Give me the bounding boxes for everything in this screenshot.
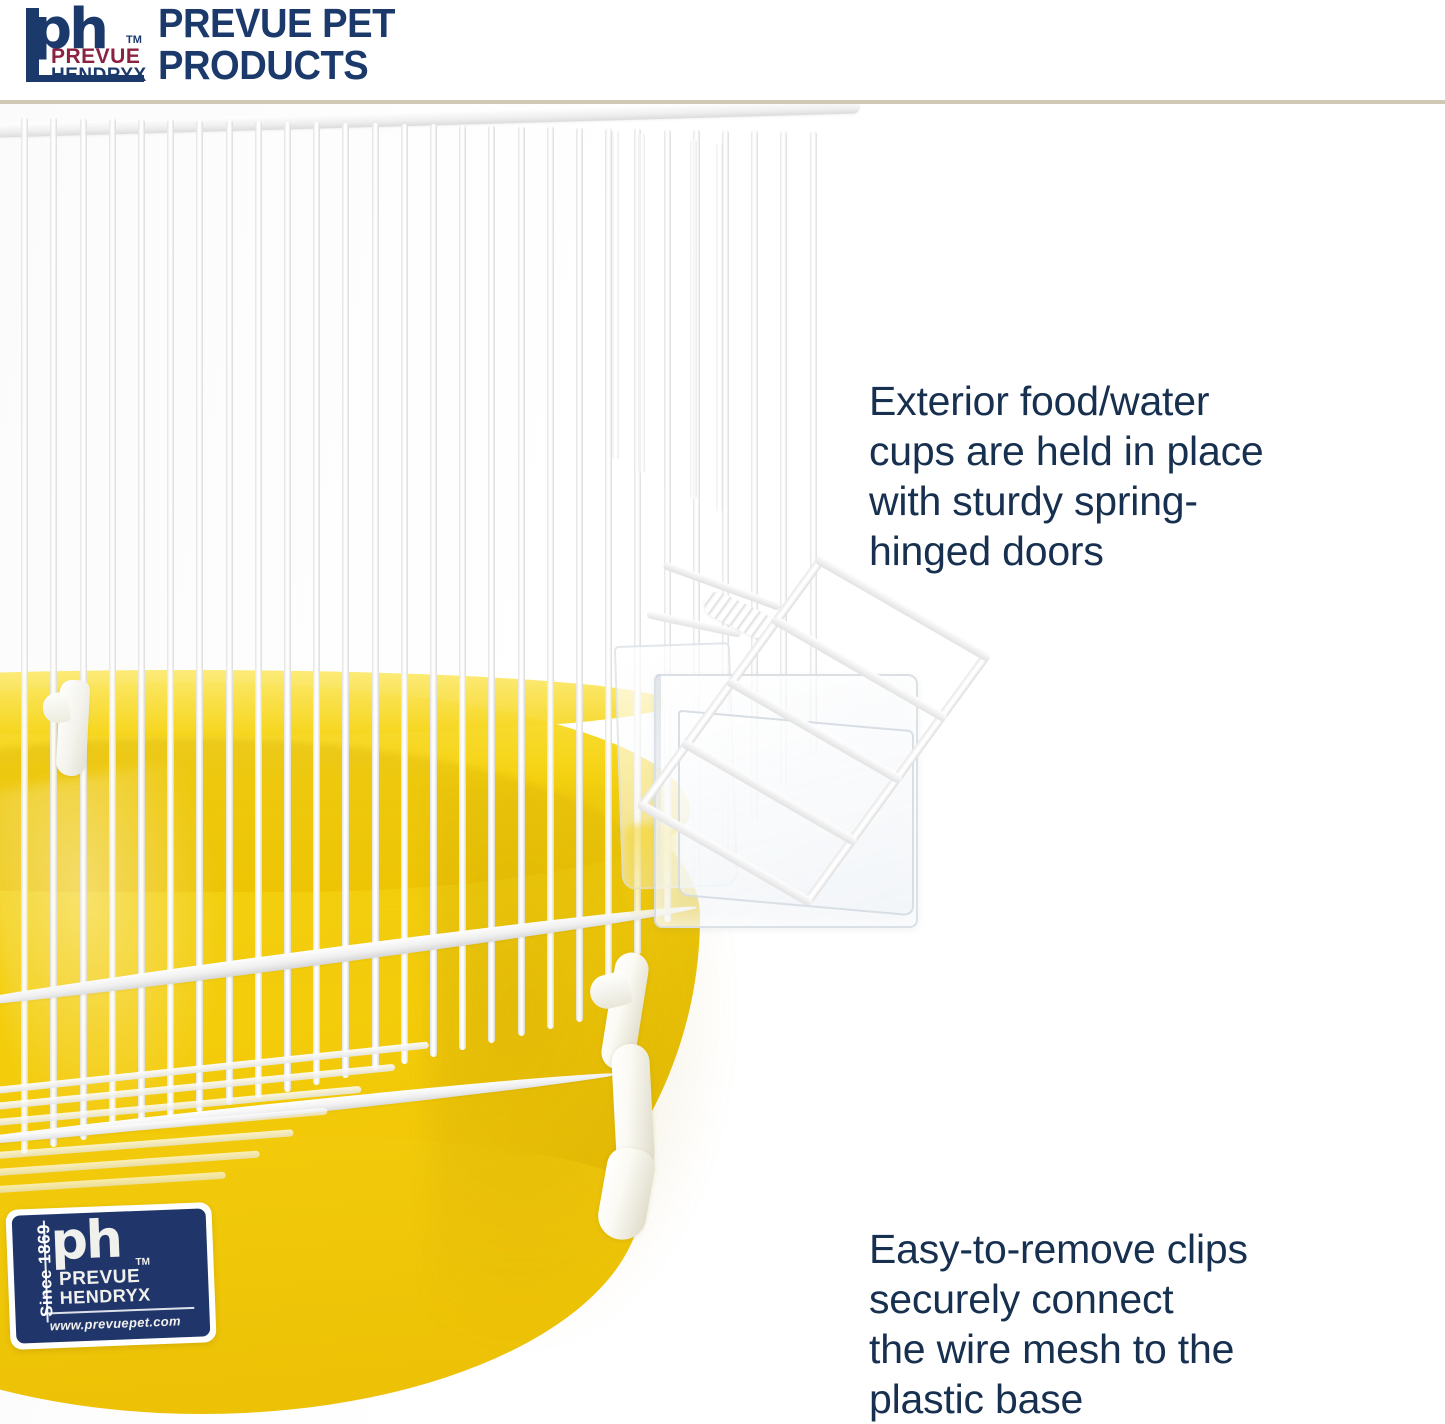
door-rung [680, 739, 859, 846]
product-infographic: ph TM PREVUE HENDRYX PREVUE PET PRODUCTS… [0, 0, 1445, 1424]
label-brand-hendryx: HENDRYX [59, 1286, 150, 1307]
logo-brand-prevue: PREVUE [51, 46, 140, 67]
base-rim-lip [0, 670, 670, 736]
brand-header: ph TM PREVUE HENDRYX PREVUE PET PRODUCTS [0, 0, 1445, 100]
product-label-panel: Since 1869 ph TM PREVUE HENDRYX www.prev… [12, 1208, 211, 1343]
base-attachment-clip [588, 952, 684, 1240]
logo-brand-hendryx: HENDRYX [51, 66, 147, 85]
brand-wordmark: PREVUE PET PRODUCTS [158, 2, 395, 86]
callout-easy-remove-clips: Easy-to-remove clips securely connect th… [869, 1224, 1389, 1424]
callout-food-water-cups: Exterior food/water cups are held in pla… [869, 376, 1389, 576]
label-website-url: www.prevuepet.com [50, 1313, 182, 1333]
exterior-food-water-cup-assembly [640, 524, 1020, 1144]
label-ph-monogram: ph [50, 1214, 122, 1269]
prevue-hendryx-logo: ph TM PREVUE HENDRYX [26, 6, 144, 84]
product-photo: Since 1869 ph TM PREVUE HENDRYX www.prev… [0, 104, 1445, 1424]
header-divider-rule [0, 100, 1445, 104]
clip-foot [594, 1145, 657, 1244]
door-rung [725, 677, 904, 784]
product-label-sticker: Since 1869 ph TM PREVUE HENDRYX www.prev… [5, 1202, 216, 1350]
door-rung [770, 615, 949, 722]
